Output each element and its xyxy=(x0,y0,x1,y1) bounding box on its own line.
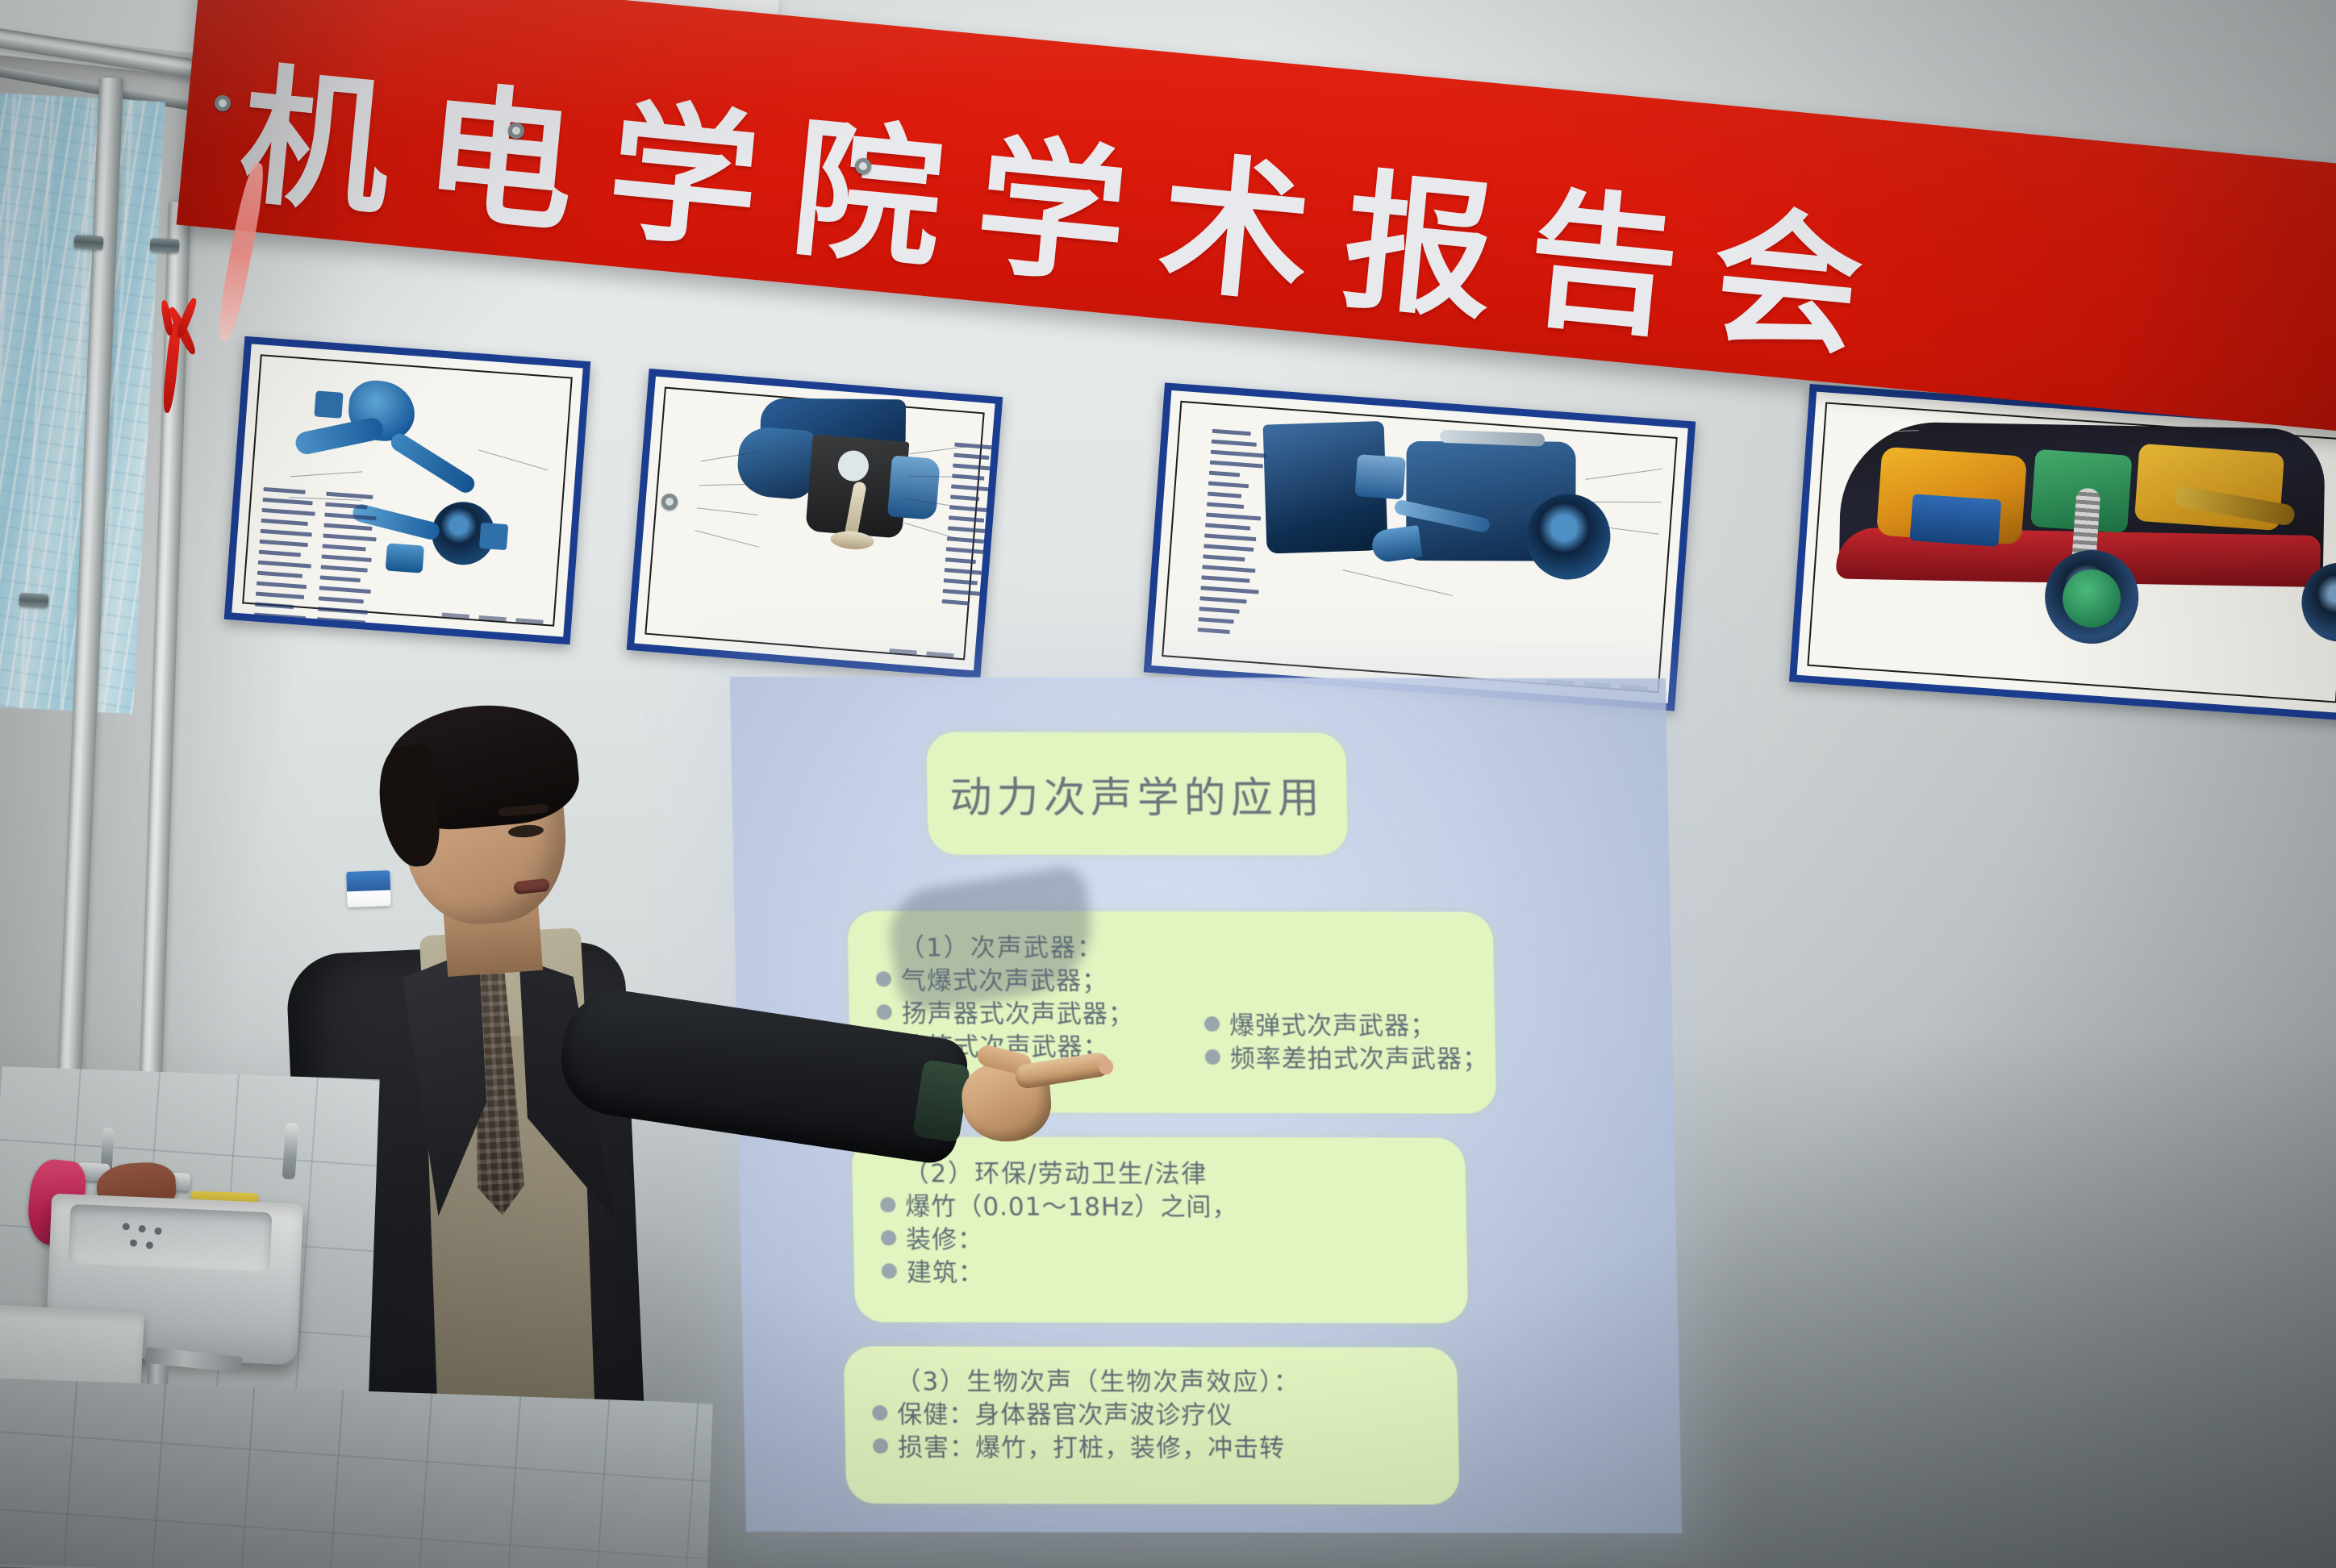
poster-engine-valvetrain xyxy=(627,369,1003,678)
section-2-heading: （2）环保/劳动卫生/法律 xyxy=(879,1157,1438,1191)
bullet-icon xyxy=(1204,1016,1220,1032)
section-3-item: 保健：身体器官次声波诊疗仪 xyxy=(872,1399,1431,1432)
banner-grommet xyxy=(508,123,524,139)
section-3-item: 损害：爆竹，打桩，装修，冲击转 xyxy=(873,1432,1432,1466)
pipe-collar xyxy=(73,235,103,250)
sink-bowl xyxy=(69,1204,273,1272)
red-ribbon xyxy=(161,297,198,418)
photo-scene: 机电学院学术报告会 动力次声学的应用 （1）次声武器： 气爆式次声武器； 扬声器… xyxy=(0,0,2336,1568)
section-1-item: 频率差拍式次声武器； xyxy=(1205,1043,1489,1077)
section-2-item: 装修： xyxy=(881,1224,1440,1257)
poster-art-car-cutaway xyxy=(1797,392,2336,714)
banner-grommet xyxy=(661,494,678,510)
poster-chassis-steering xyxy=(224,336,591,645)
section-1-right-column: 爆弹式次声武器； 频率差拍式次声武器； xyxy=(1204,1010,1489,1076)
speaker-pointing-hand xyxy=(947,1031,1116,1151)
banner-grommet xyxy=(215,95,231,111)
poster-cooling-transmission xyxy=(1144,382,1696,711)
bullet-icon xyxy=(1205,1049,1220,1065)
section-3-heading: （3）生物次声（生物次声效应）： xyxy=(871,1366,1430,1399)
pipe-collar xyxy=(19,593,49,608)
poster-vehicle-cutaway xyxy=(1789,384,2336,721)
section-2-item: 建筑： xyxy=(882,1257,1441,1291)
slide-title-text: 动力次声学的应用 xyxy=(949,763,1325,824)
slide-title-box: 动力次声学的应用 xyxy=(926,732,1348,855)
tiled-floor xyxy=(0,1378,713,1568)
slide-section-2: （2）环保/劳动卫生/法律 爆竹（0.01～18Hz）之间， 装修： 建筑： xyxy=(852,1136,1469,1323)
banner-grommet xyxy=(855,158,871,174)
poster-art-engine xyxy=(634,377,995,671)
section-2-item: 爆竹（0.01～18Hz）之间， xyxy=(880,1191,1439,1224)
slide-section-3: （3）生物次声（生物次声效应）： 保健：身体器官次声波诊疗仪 损害：爆竹，打桩，… xyxy=(844,1346,1460,1504)
section-1-item: 爆弹式次声武器； xyxy=(1204,1010,1488,1044)
pipe-collar xyxy=(150,238,180,253)
